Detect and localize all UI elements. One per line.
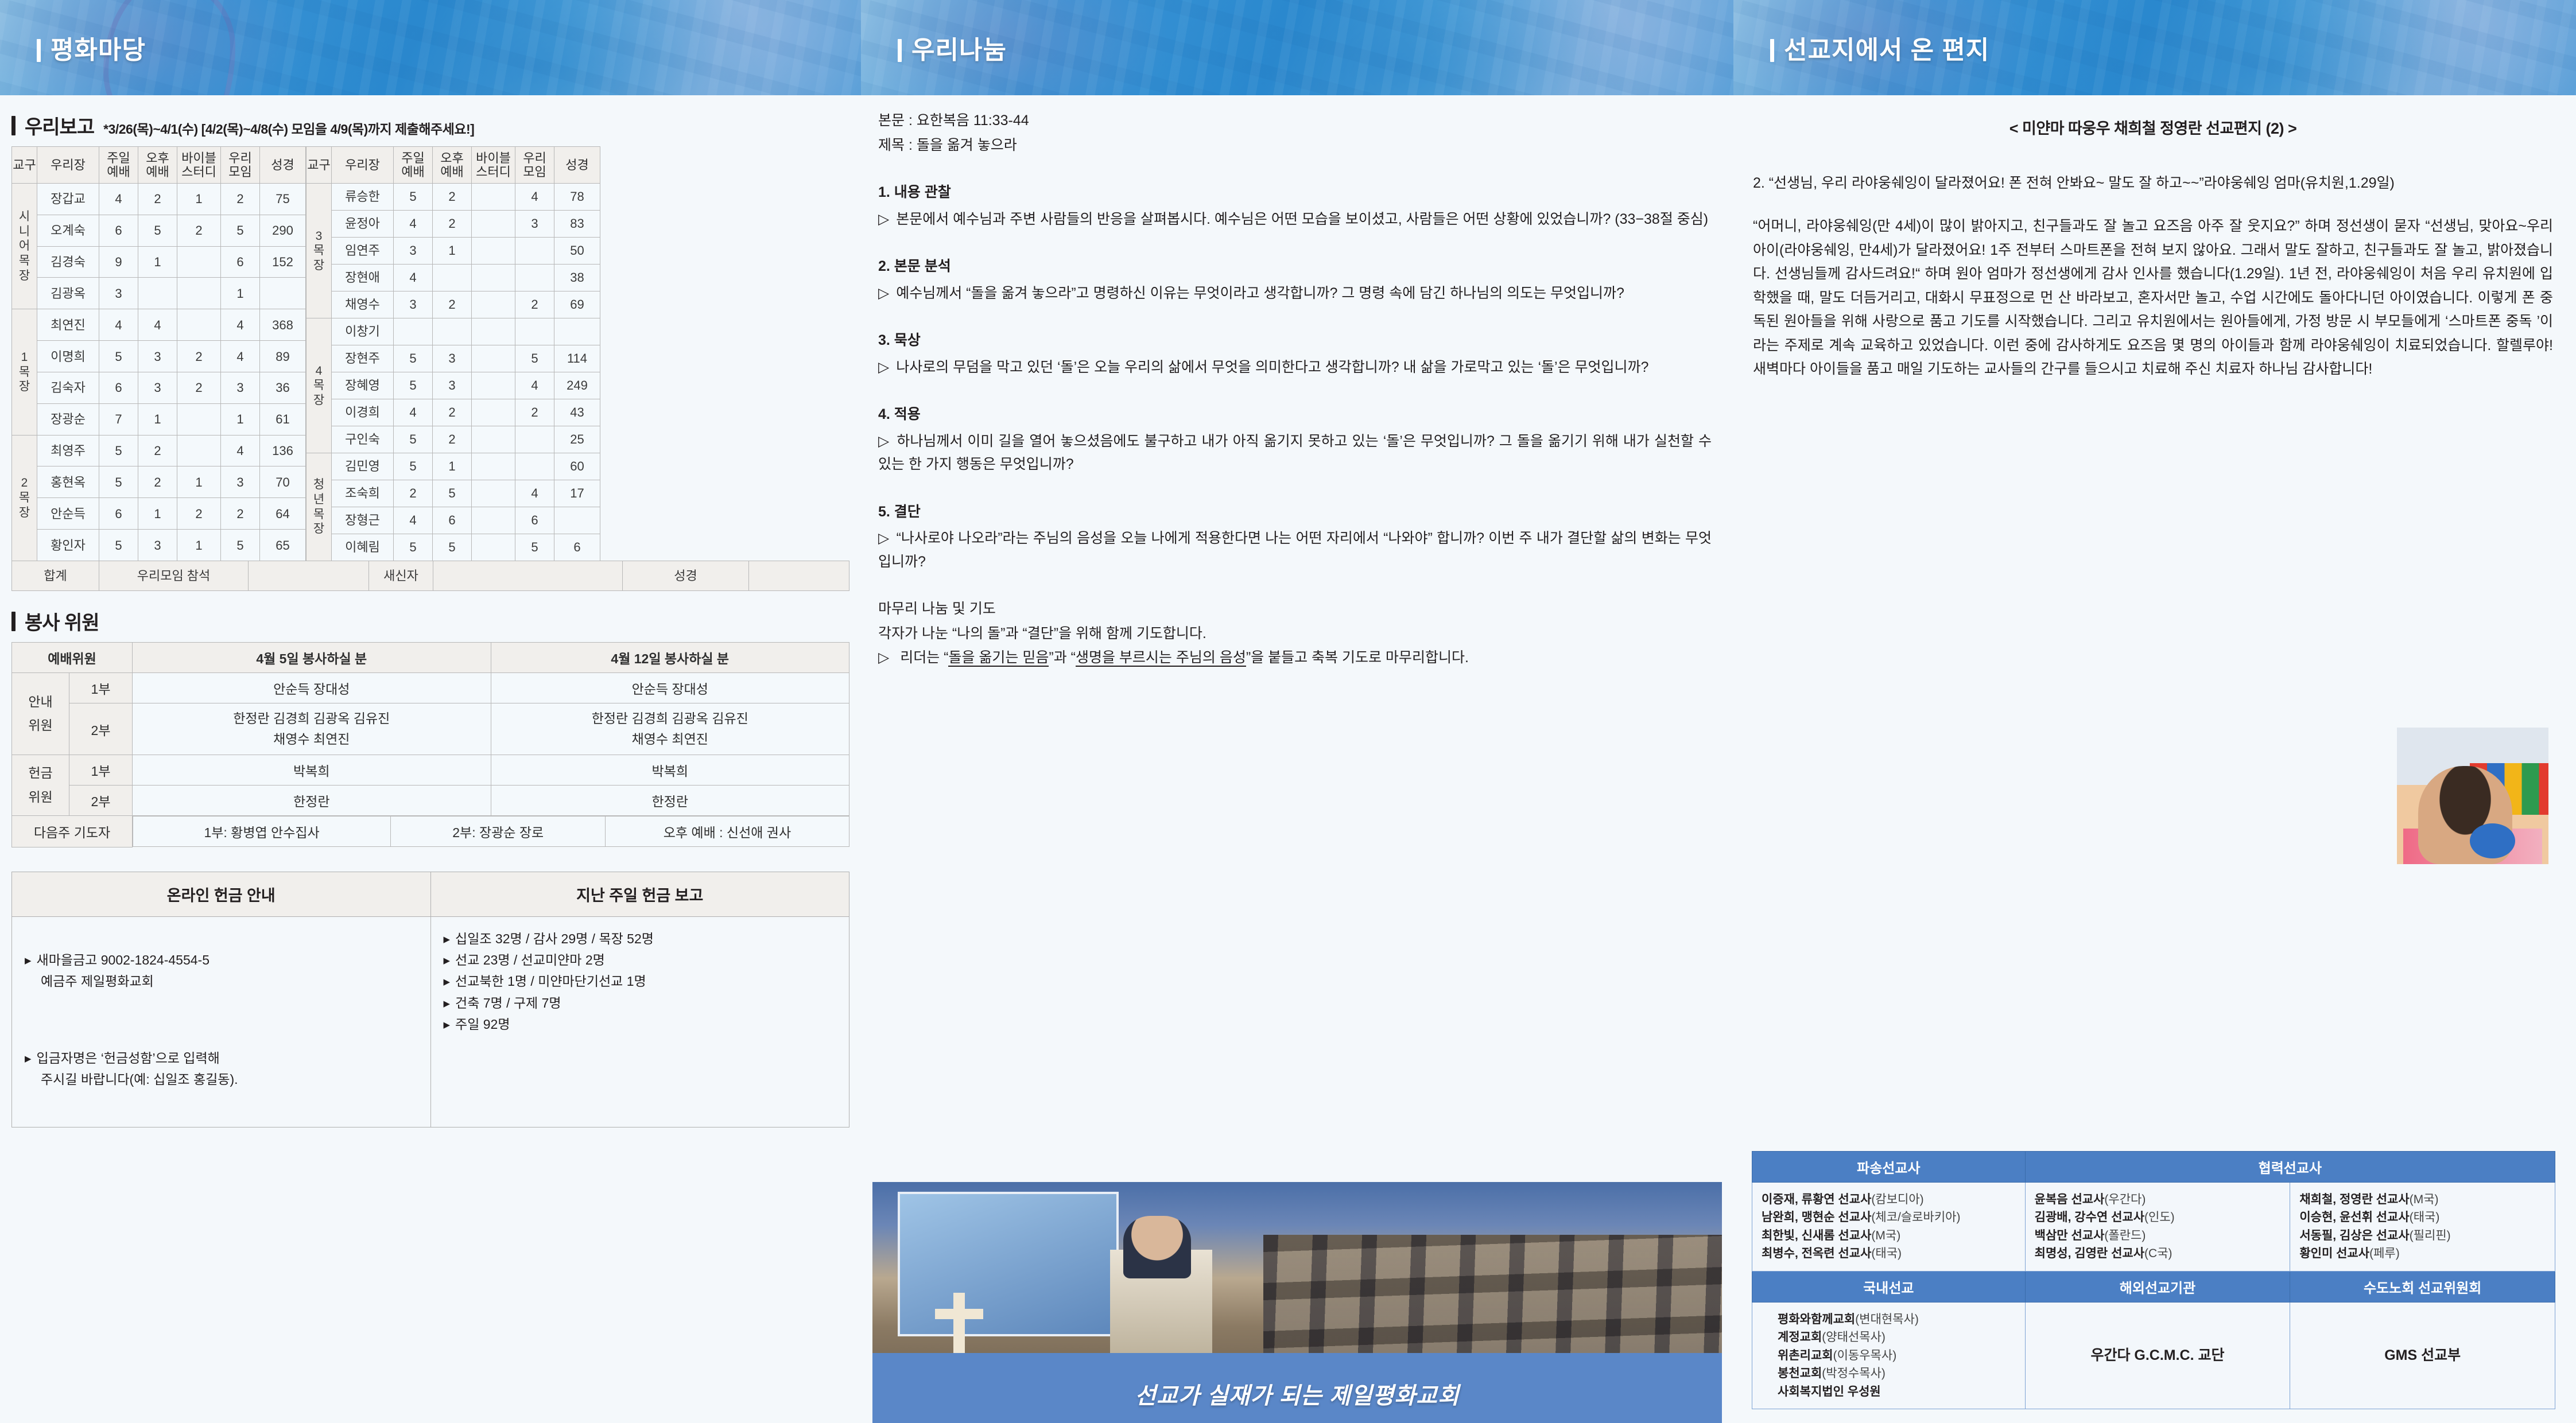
study-section-question: 나사로의 무덤을 막고 있던 ‘돌’은 오늘 우리의 삶에서 무엇을 의미한다고… [878,356,1712,379]
missionary-entry: 황인미 선교사(페루) [2299,1245,2546,1263]
afternoon-service: 1 [433,238,472,265]
missionary-place: (태국) [2410,1211,2440,1224]
table-row: 청 년 목 장김민영5160 [307,453,600,480]
banner-mid-title: 우리나눔 [898,29,1007,66]
missionary-name: 위촌리교회 [1778,1349,1833,1362]
column-header: 우리장 [37,147,99,184]
sunday-service: 5 [394,345,433,372]
table-header-row: 교구우리장주일 예배오후 예배바이블 스터디우리 모임성경 [307,147,600,184]
column-header: 우리 모임 [515,147,554,184]
leader-name: 장혜영 [332,372,394,399]
missionary-name: 이증재, 류황연 선교사 [1762,1193,1871,1206]
missionary-entry: 이승현, 윤선휘 선교사(태국) [2299,1208,2546,1227]
table-row: 장현주535114 [307,345,600,372]
scripture-count: 290 [260,215,306,246]
afternoon-service: 1 [138,246,177,278]
scripture-count: 65 [260,530,306,561]
missionary-entry: 김광배, 강수연 선교사(인도) [2035,1208,2281,1227]
sunday-service: 5 [99,341,138,372]
missionary-name: 봉천교회 [1778,1367,1822,1380]
leader-name: 채영수 [332,291,394,318]
leader-name: 장형근 [332,507,394,534]
leader-name: 장현애 [332,265,394,291]
study-section-heading: 2. 본문 분석 [878,255,1712,278]
bible-study [177,246,221,278]
sent-missionaries-header: 파송선교사 [1752,1151,2026,1182]
sent-missionaries-cell: 이증재, 류황연 선교사(캄보디아)남완희, 맹현순 선교사(체코/슬로바키아)… [1752,1182,2026,1271]
missionary-entry: 평화와함께교회(변대현목사) [1778,1311,2016,1329]
our-meeting: 4 [515,184,554,211]
afternoon-service: 2 [433,426,472,453]
closing-underline-2: 생명을 부르시는 주님의 음성 [1076,650,1246,667]
afternoon-service: 1 [138,498,177,530]
scripture-count: 60 [554,453,600,480]
scripture-count: 36 [260,372,306,403]
scripture-count: 136 [260,435,306,466]
missionary-place: (M국) [1871,1229,1900,1242]
overseas-org-cell: 우간다 G.C.M.C. 교단 [2025,1302,2290,1409]
sunday-service: 5 [99,435,138,466]
afternoon-service: 3 [138,530,177,561]
leader-name: 이명희 [37,341,99,372]
table-row: 이경희42243 [307,399,600,426]
study-section-question: “나사로야 나오라”라는 주님의 음성을 오늘 나에게 적용한다면 나는 어떤 … [878,527,1712,573]
missionary-entry: 최병수, 전옥련 선교사(태국) [1762,1245,2016,1263]
banner-right: 선교지에서 온 편지 [1733,0,2576,95]
leader-name: 오계숙 [37,215,99,246]
closing-line-2: 리더는 “돌을 옮기는 믿음”과 “생명을 부르시는 주님의 음성”을 붙들고 … [878,646,1712,670]
banner-left: 평화마당 [0,0,861,95]
sunday-service: 3 [394,238,433,265]
mission-letter-paragraph: 2. “선생님, 우리 라야웅쉐잉이 달라졌어요! 폰 전혀 안봐요~ 말도 잘… [1753,172,2553,196]
sunday-service: 4 [394,265,433,291]
missionary-place: (태국) [1871,1247,1902,1260]
our-meeting: 6 [221,246,260,278]
totals-new-label: 새신자 [369,561,433,591]
bible-study [472,507,515,534]
volunteers-heading-row: 봉사 위원 [0,591,861,642]
volunteers-service-1: 1부 [69,673,133,703]
partner-missionaries-cell-b: 채희철, 정영란 선교사(M국)이승현, 윤선휘 선교사(태국)서동필, 김상은… [2290,1182,2555,1271]
missionary-place: (폴란드) [2104,1229,2146,1242]
scripture-count: 25 [554,426,600,453]
leader-name: 임연주 [332,238,394,265]
mission-letter-title: < 미얀마 따웅우 채희철 정영란 선교편지 (2) > [1753,116,2553,142]
cross-icon [953,1293,965,1356]
missionary-place: (변대현목사) [1855,1313,1919,1326]
our-meeting: 4 [221,309,260,341]
table-row: 국내선교 해외선교기관 수도노회 선교위원회 [1752,1271,2555,1302]
column-header: 성경 [260,147,306,184]
table-row: 1 목 장최연진444368 [12,309,306,341]
missionary-place: (우간다) [2104,1193,2146,1206]
leader-name: 장현주 [332,345,394,372]
bible-study: 1 [177,184,221,215]
table-row: 김숙자632336 [12,372,306,403]
sunday-service: 5 [394,453,433,480]
next-week-afternoon: 오후 예배 : 신선애 권사 [606,817,849,847]
group-label: 1 목 장 [12,309,37,435]
bible-study [472,426,515,453]
sunday-service: 6 [99,215,138,246]
missionary-name: 서동필, 김상은 선교사 [2299,1229,2409,1242]
our-meeting: 4 [515,480,554,507]
table-row: 임연주3150 [307,238,600,265]
table-row: 온라인 헌금 안내 지난 주일 헌금 보고 [12,872,849,916]
report-totals-table: 합계 우리모임 참석 새신자 성경 [11,561,849,591]
scripture-count: 38 [554,265,600,291]
our-meeting: 5 [515,534,554,561]
totals-scripture-label: 성경 [623,561,749,591]
table-row: 구인숙5225 [307,426,600,453]
bible-study: 1 [177,466,221,498]
left-column: 평화마당 우리보고 *3/26(목)~4/1(수) [4/2(목)~4/8(수)… [0,0,861,1423]
afternoon-service: 2 [433,291,472,318]
missionary-place: (박정수목사) [1822,1367,1886,1380]
column-header: 주일 예배 [394,147,433,184]
next-week-second: 2부: 장광순 장로 [391,817,606,847]
domestic-mission-header: 국내선교 [1752,1271,2026,1302]
afternoon-service: 2 [433,184,472,211]
totals-label: 합계 [12,561,99,591]
bulletin-page: 평화마당 우리보고 *3/26(목)~4/1(수) [4/2(목)~4/8(수)… [0,0,2576,1423]
bible-study [472,318,515,345]
leader-name: 안순득 [37,498,99,530]
bible-study [472,184,515,211]
our-meeting: 5 [221,530,260,561]
volunteers-date1-header: 4월 5일 봉사하실 분 [133,643,491,673]
bible-study [472,372,515,399]
table-row: 4 목 장이창기 [307,318,600,345]
bible-study [472,399,515,426]
banner-right-title: 선교지에서 온 편지 [1770,29,1989,66]
online-line: 입금자명은 ‘헌금성함’으로 입력해 주시길 바랍니다(예: 십일조 홍길동). [25,1027,418,1112]
table-row: 새마을금고 9002-1824-4554-5 예금주 제일평화교회 입금자명은 … [12,916,849,1127]
middle-column: 우리나눔 본문 : 요한복음 11:33-44 제목 : 돌을 옮겨 놓으라 1… [861,0,1733,1423]
missionary-entry: 서동필, 김상은 선교사(필리핀) [2299,1227,2546,1245]
report-table-right: 교구우리장주일 예배오후 예배바이블 스터디우리 모임성경3 목 장류승한524… [306,146,600,561]
giving-table: 온라인 헌금 안내 지난 주일 헌금 보고 새마을금고 9002-1824-45… [11,872,849,1127]
totals-new-value [433,561,623,591]
afternoon-service: 1 [138,403,177,435]
missionary-place: (C국) [2144,1247,2172,1260]
afternoon-service: 5 [433,534,472,561]
scripture-count: 70 [260,466,306,498]
column-header: 성경 [554,147,600,184]
scripture-count: 61 [260,403,306,435]
scripture-count [554,318,600,345]
partner-missionaries-cell-a: 윤복음 선교사(우간다)김광배, 강수연 선교사(인도)백삼만 선교사(폴란드)… [2025,1182,2290,1271]
leader-name: 김경숙 [37,246,99,278]
missionary-name: 채희철, 정영란 선교사 [2299,1193,2409,1206]
bible-study [177,309,221,341]
missionary-entry: 채희철, 정영란 선교사(M국) [2299,1191,2546,1209]
our-meeting: 2 [515,399,554,426]
giving-report-cell: 십일조 32명 / 감사 29명 / 목장 52명선교 23명 / 선교미얀마 … [430,916,849,1127]
sunday-service: 4 [394,399,433,426]
our-meeting: 1 [221,403,260,435]
bible-study [472,480,515,507]
closing-part-b: ”과 “ [1049,650,1076,666]
bible-study [472,453,515,480]
bible-study [472,345,515,372]
missionary-name: 계정교회 [1778,1331,1822,1344]
table-row: 오계숙6525290 [12,215,306,246]
bible-study [177,435,221,466]
bullet-triangle-icon: 새마을금고 9002-1824-4554-5 [25,952,210,967]
banner-left-title: 평화마당 [37,29,146,66]
bible-study [472,534,515,561]
report-tables: 교구우리장주일 예배오후 예배바이블 스터디우리 모임성경시 니 어 목 장장갑… [0,146,861,561]
afternoon-service: 1 [433,453,472,480]
missionary-name: 이승현, 윤선휘 선교사 [2299,1211,2409,1224]
afternoon-service: 3 [138,372,177,403]
missionary-name: 백삼만 선교사 [2035,1229,2105,1242]
sunday-service: 5 [99,530,138,561]
sunday-service: 5 [99,466,138,498]
domestic-mission-cell: 평화와함께교회(변대현목사)계정교회(양태선목사)위촌리교회(이동우목사)봉천교… [1752,1302,2026,1409]
study-title: 제목 : 돌을 옮겨 놓으라 [878,134,1712,157]
missionary-name: 황인미 선교사 [2299,1247,2369,1260]
giving-report-line: 건축 7명 / 구제 7명 [444,993,837,1014]
our-meeting [515,265,554,291]
leader-name: 조숙희 [332,480,394,507]
missionary-place: (필리핀) [2410,1229,2451,1242]
scripture-count: 368 [260,309,306,341]
table-row: 이증재, 류황연 선교사(캄보디아)남완희, 맹현순 선교사(체코/슬로바키아)… [1752,1182,2555,1271]
report-subheading: *3/26(목)~4/1(수) [4/2(목)~4/8(수) 모임을 4/9(목… [103,118,474,138]
group-label: 4 목 장 [307,318,332,453]
study-section-question: 하나님께서 이미 길을 열어 놓으셨음에도 불구하고 내가 아직 옮기지 못하고… [878,430,1712,476]
table-row: 채영수32269 [307,291,600,318]
bible-study-body: 본문 : 요한복음 11:33-44 제목 : 돌을 옮겨 놓으라 1. 내용 … [861,95,1733,670]
our-meeting: 3 [221,372,260,403]
scripture-count: 78 [554,184,600,211]
mission-letter-paragraph: “어머니, 라야웅쉐잉(만 4세)이 많이 밝아지고, 친구들과도 잘 놀고 요… [1753,215,2553,382]
table-row: 합계 우리모임 참석 새신자 성경 [12,561,849,591]
leader-name: 장광순 [37,403,99,435]
table-row: 헌금 위원 1부 박복희 박복희 [12,755,849,786]
leader-name: 이창기 [332,318,394,345]
sunday-service: 4 [99,184,138,215]
table-row: 2 목 장최영주524136 [12,435,306,466]
missionary-entry: 봉천교회(박정수목사) [1778,1364,2016,1383]
table-row: 황인자531565 [12,530,306,561]
volunteers-date2-header: 4월 12일 봉사하실 분 [491,643,849,673]
afternoon-service: 5 [138,215,177,246]
table-row: 홍현옥521370 [12,466,306,498]
bible-study [177,403,221,435]
study-section-question: 본문에서 예수님과 주변 사람들의 반응을 살펴봅시다. 예수님은 어떤 모습을… [878,208,1712,231]
afternoon-service: 3 [433,372,472,399]
bible-study [472,291,515,318]
volunteers-cell: 안순득 장대성 [133,673,491,703]
missionary-place: (인도) [2144,1211,2175,1224]
scripture-count: 152 [260,246,306,278]
sunday-service [394,318,433,345]
photo-caption: 선교가 실재가 되는 제일평화교회 [872,1377,1722,1410]
missionary-entry: 사회복지법인 우성원 [1778,1383,2016,1401]
bible-study: 2 [177,341,221,372]
sunday-service: 6 [99,372,138,403]
scripture-count: 83 [554,211,600,238]
volunteers-table: 예배위원 4월 5일 봉사하실 분 4월 12일 봉사하실 분 안내 위원 1부… [11,642,849,847]
sanctuary-photo: 선교가 실재가 되는 제일평화교회 [872,1182,1722,1423]
sunday-service: 4 [394,507,433,534]
study-section-question: 예수님께서 “돌을 옮겨 놓으라”고 명령하신 이유는 무엇이라고 생각합니까?… [878,282,1712,305]
table-row: 윤정아42383 [307,211,600,238]
missionary-name: 윤복음 선교사 [2035,1193,2105,1206]
bible-study: 2 [177,215,221,246]
our-meeting: 6 [515,507,554,534]
missionary-place: (체코/슬로바키아) [1871,1211,1960,1224]
table-row: 이혜림5556 [307,534,600,561]
table-row: 2부 한정란 한정란 [12,786,849,816]
study-section-heading: 3. 묵상 [878,329,1712,352]
scripture-count: 75 [260,184,306,215]
bullet-triangle-icon: 입금자명은 ‘헌금성함’으로 입력해 [25,1051,220,1066]
column-header: 우리장 [332,147,394,184]
closing-underline-1: 돌을 옮기는 믿음 [948,650,1049,667]
column-header: 주일 예배 [99,147,138,184]
preacher [1123,1216,1191,1278]
leader-name: 장갑교 [37,184,99,215]
group-label: 시 니 어 목 장 [12,184,37,309]
scripture-count: 64 [260,498,306,530]
our-meeting [515,238,554,265]
next-week-first: 1부: 황병엽 안수집사 [133,817,391,847]
scripture-count: 6 [554,534,600,561]
child-photo [2397,728,2548,864]
leader-name: 김민영 [332,453,394,480]
closing-part-c: ”을 붙들고 축복 기도로 마무리합니다. [1246,650,1469,666]
bible-study [472,238,515,265]
missionary-name: 최병수, 전옥련 선교사 [1762,1247,1871,1260]
table-row: 1부: 황병엽 안수집사 2부: 장광순 장로 오후 예배 : 신선애 권사 [133,817,849,847]
afternoon-service: 3 [138,341,177,372]
leader-name: 김광옥 [37,278,99,309]
sunday-service: 9 [99,246,138,278]
our-meeting: 5 [515,345,554,372]
sunday-service: 7 [99,403,138,435]
study-section-heading: 1. 내용 관찰 [878,181,1712,204]
heading-bar-icon [11,612,15,631]
bible-study [472,265,515,291]
last-week-giving-title: 지난 주일 헌금 보고 [430,872,849,916]
volunteers-cell: 박복희 [133,755,491,786]
volunteers-cell: 한정란 [133,786,491,816]
volunteers-service-2: 2부 [69,703,133,755]
our-meeting [515,453,554,480]
report-heading: 우리보고 [25,111,94,139]
missionary-name: 김광배, 강수연 선교사 [2035,1211,2144,1224]
missionary-place: (페루) [2369,1247,2400,1260]
presbytery-cell: GMS 선교부 [2290,1302,2555,1409]
volunteers-cell: 한정란 김경희 김광옥 김유진 채영수 최연진 [133,703,491,755]
sunday-service: 3 [394,291,433,318]
afternoon-service [138,278,177,309]
afternoon-service: 2 [138,435,177,466]
totals-meeting-value [249,561,369,591]
missionary-name: 사회복지법인 우성원 [1778,1385,1881,1398]
our-meeting [515,426,554,453]
column-header: 교구 [307,147,332,184]
report-heading-row: 우리보고 *3/26(목)~4/1(수) [4/2(목)~4/8(수) 모임을 … [0,95,861,146]
table-row: 김경숙916152 [12,246,306,278]
volunteers-cell: 한정란 [491,786,849,816]
missionary-entry: 윤복음 선교사(우간다) [2035,1191,2281,1209]
volunteers-service-2: 2부 [69,786,133,816]
missionary-entry: 백삼만 선교사(폴란드) [2035,1227,2281,1245]
leader-name: 홍현옥 [37,466,99,498]
missionary-place: (이동우목사) [1833,1349,1897,1362]
missionary-place: (양태선목사) [1822,1331,1886,1344]
bible-study [177,278,221,309]
closing-heading: 마무리 나눔 및 기도 [878,597,1712,621]
overseas-org-header: 해외선교기관 [2025,1271,2290,1302]
our-meeting: 3 [221,466,260,498]
missionary-place: (M국) [2410,1193,2439,1206]
bible-study [472,211,515,238]
volunteers-service-1: 1부 [69,755,133,786]
column-header: 오후 예배 [433,147,472,184]
table-row: 장혜영534249 [307,372,600,399]
volunteers-heading: 봉사 위원 [25,607,99,635]
sunday-service: 2 [394,480,433,507]
afternoon-service: 5 [433,480,472,507]
table-row: 시 니 어 목 장장갑교421275 [12,184,306,215]
table-row: 장형근466 [307,507,600,534]
leader-name: 김숙자 [37,372,99,403]
group-label: 3 목 장 [307,184,332,318]
presbytery-header: 수도노회 선교위원회 [2290,1271,2555,1302]
our-meeting: 2 [221,184,260,215]
bible-study: 2 [177,372,221,403]
table-row: 장현애438 [307,265,600,291]
missionary-name: 남완희, 맹현순 선교사 [1762,1211,1871,1224]
sunday-service: 5 [394,372,433,399]
scripture-count: 69 [554,291,600,318]
study-section-heading: 4. 적용 [878,403,1712,426]
right-column: 선교지에서 온 편지 < 미얀마 따웅우 채희철 정영란 선교편지 (2) > … [1733,0,2576,1423]
afternoon-service [433,318,472,345]
sunday-service: 4 [394,211,433,238]
leader-name: 윤정아 [332,211,394,238]
missionary-entry: 이증재, 류황연 선교사(캄보디아) [1762,1191,2016,1209]
scripture-count: 114 [554,345,600,372]
scripture-count: 17 [554,480,600,507]
table-row: 안순득612264 [12,498,306,530]
scripture-count: 249 [554,372,600,399]
sunday-service: 5 [394,534,433,561]
volunteers-group-guide: 안내 위원 [12,673,69,755]
our-meeting [515,318,554,345]
table-header-row: 교구우리장주일 예배오후 예배바이블 스터디우리 모임성경 [12,147,306,184]
table-row: 2부 한정란 김경희 김광옥 김유진 채영수 최연진 한정란 김경희 김광옥 김… [12,703,849,755]
mission-letter: < 미얀마 따웅우 채희철 정영란 선교편지 (2) > 2. “선생님, 우리… [1733,95,2576,382]
table-row: 김광옥31 [12,278,306,309]
group-label: 2 목 장 [12,435,37,561]
afternoon-service: 6 [433,507,472,534]
missionary-name: 최한빛, 신새롬 선교사 [1762,1229,1871,1242]
next-week-prayer-label: 다음주 기도자 [12,816,133,847]
table-row: 장광순71161 [12,403,306,435]
online-line: 예금주 제일평화교회 [25,971,418,992]
scripture-count: 50 [554,238,600,265]
sunday-service: 6 [99,498,138,530]
sunday-service: 5 [394,426,433,453]
afternoon-service [433,265,472,291]
